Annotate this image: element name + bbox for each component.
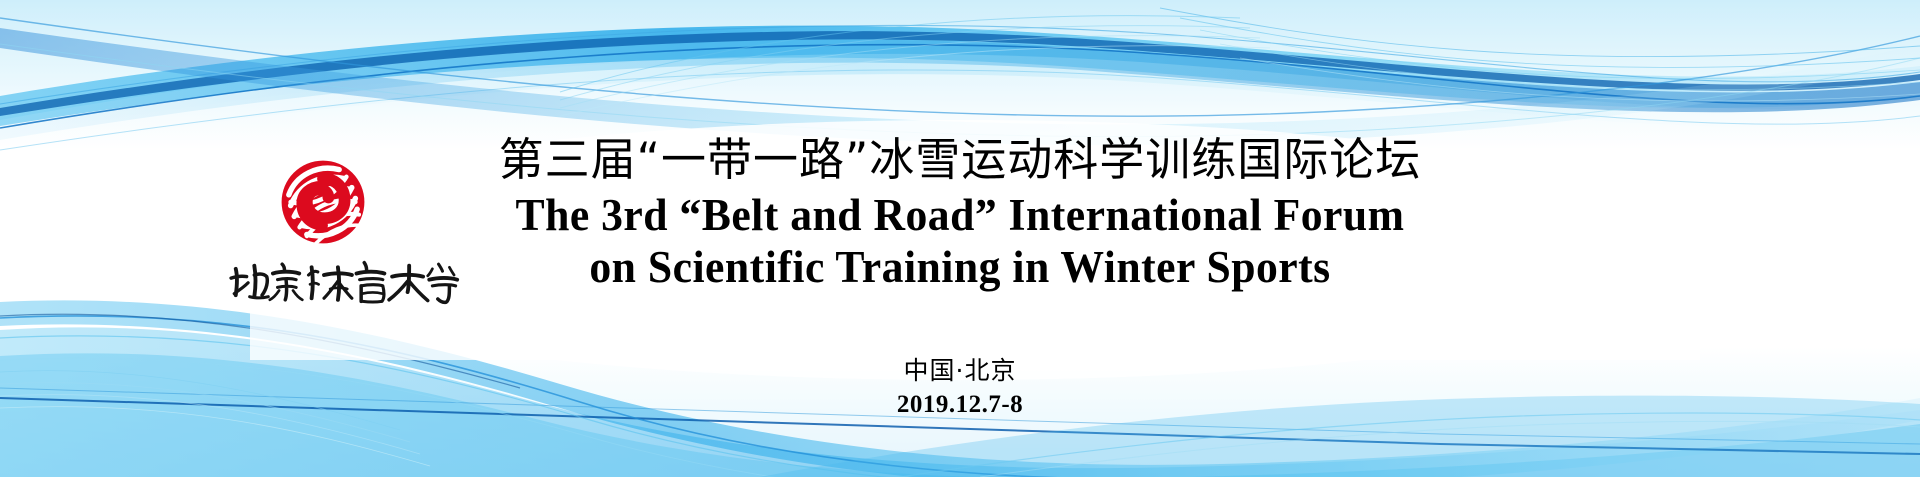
forum-title-english-line-2: on Scientific Training in Winter Sports	[349, 242, 1571, 293]
forum-title-english-line-1: The 3rd “Belt and Road” International Fo…	[349, 190, 1571, 241]
conference-banner: 第三届“一带一路”冰雪运动科学训练国际论坛 The 3rd “Belt and …	[0, 0, 1920, 477]
banner-content: 第三届“一带一路”冰雪运动科学训练国际论坛 The 3rd “Belt and …	[0, 0, 1920, 477]
forum-title-chinese: 第三届“一带一路”冰雪运动科学训练国际论坛	[330, 134, 1590, 186]
forum-date: 2019.12.7-8	[330, 389, 1590, 421]
forum-title-block: 第三届“一带一路”冰雪运动科学训练国际论坛 The 3rd “Belt and …	[330, 134, 1590, 293]
forum-meta-block: 中国·北京 2019.12.7-8	[330, 355, 1590, 421]
forum-location: 中国·北京	[330, 355, 1590, 387]
